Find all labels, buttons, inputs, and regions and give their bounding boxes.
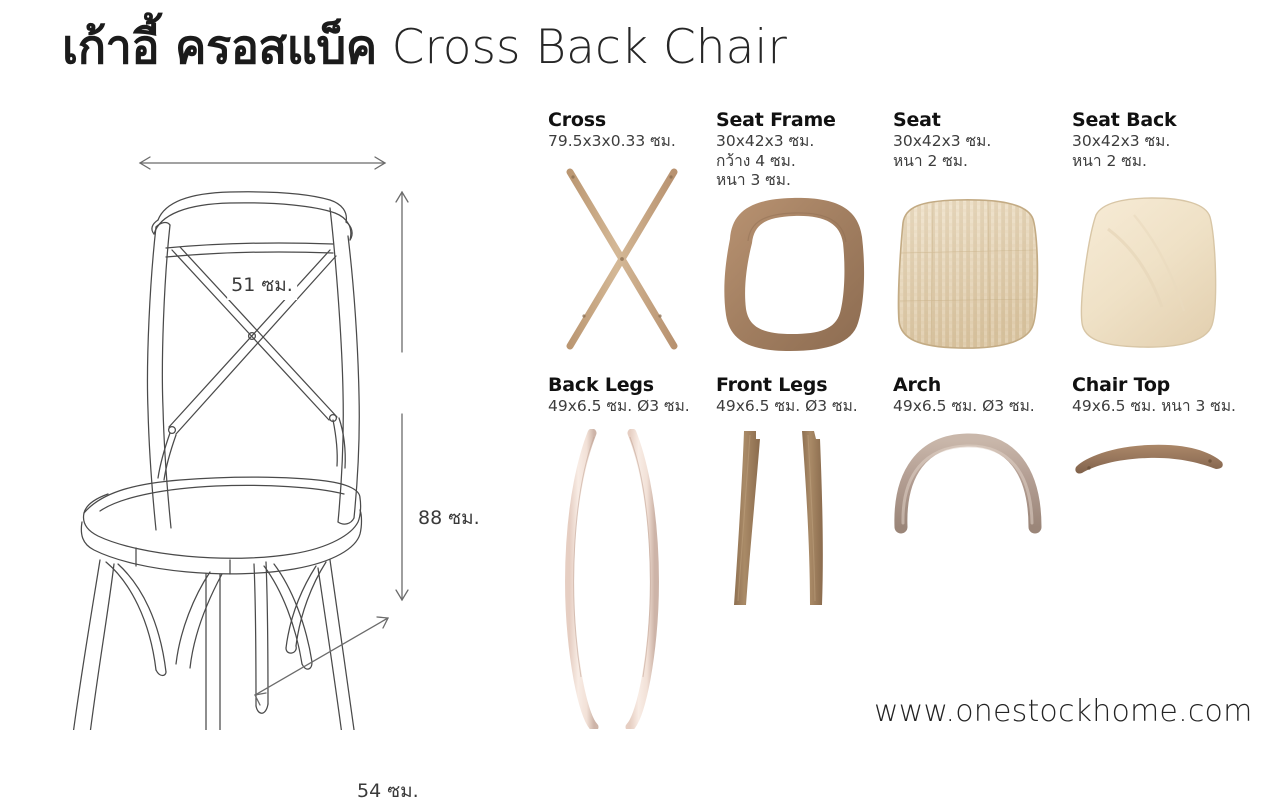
part-spec: หนา 2 ซม. bbox=[1072, 152, 1240, 172]
dimension-width-label: 51 ซม. bbox=[227, 270, 297, 300]
part-spec: 49x6.5 ซม. Ø3 ซม. bbox=[548, 397, 716, 417]
part-spec: 79.5x3x0.33 ซม. bbox=[548, 132, 716, 152]
part-spec: 49x6.5 ซม. Ø3 ซม. bbox=[716, 397, 884, 417]
cross-art bbox=[548, 166, 716, 351]
part-title: Seat Frame bbox=[716, 108, 884, 132]
page-title-english: Cross Back Chair bbox=[392, 20, 787, 75]
part-title: Front Legs bbox=[716, 373, 884, 397]
seat-back-art bbox=[1072, 195, 1240, 355]
infographic-page: เก้าอี้ ครอสแบ็ค Cross Back Chair bbox=[0, 0, 1285, 756]
website-url: www.onestockhome.com bbox=[874, 694, 1253, 729]
part-spec: 30x42x3 ซม. bbox=[1072, 132, 1240, 152]
part-title: Seat bbox=[893, 108, 1061, 132]
part-front-legs: Front Legs 49x6.5 ซม. Ø3 ซม. bbox=[716, 373, 884, 609]
part-title: Arch bbox=[893, 373, 1061, 397]
part-spec: 30x42x3 ซม. bbox=[893, 132, 1061, 152]
part-spec: หนา 2 ซม. bbox=[893, 152, 1061, 172]
dimension-height-label: 88 ซม. bbox=[414, 503, 484, 533]
part-title: Chair Top bbox=[1072, 373, 1240, 397]
seat-art bbox=[893, 195, 1061, 355]
part-spec: กว้าง 4 ซม. bbox=[716, 152, 884, 172]
part-seat-back: Seat Back 30x42x3 ซม. หนา 2 ซม. bbox=[1072, 108, 1240, 355]
seat-frame-art bbox=[716, 195, 884, 355]
part-arch: Arch 49x6.5 ซม. Ø3 ซม. bbox=[893, 373, 1061, 541]
part-cross: Cross 79.5x3x0.33 ซม. bbox=[548, 108, 716, 351]
dimension-depth-label: 54 ซม. bbox=[353, 776, 423, 806]
part-chair-top: Chair Top 49x6.5 ซม. หนา 3 ซม. bbox=[1072, 373, 1240, 513]
part-spec: 49x6.5 ซม. หนา 3 ซม. bbox=[1072, 397, 1240, 417]
part-seat-frame: Seat Frame 30x42x3 ซม. กว้าง 4 ซม. หนา 3… bbox=[716, 108, 884, 355]
part-spec: หนา 3 ซม. bbox=[716, 171, 884, 191]
part-title: Back Legs bbox=[548, 373, 716, 397]
chair-drawing-panel: 51 ซม. 88 ซม. 54 ซม. bbox=[30, 130, 470, 730]
part-title: Cross bbox=[548, 108, 716, 132]
page-title: เก้าอี้ ครอสแบ็ค Cross Back Chair bbox=[62, 18, 787, 78]
part-spec: 49x6.5 ซม. Ø3 ซม. bbox=[893, 397, 1061, 417]
arch-art bbox=[893, 431, 1061, 541]
part-spec: 30x42x3 ซม. bbox=[716, 132, 884, 152]
chair-top-art bbox=[1072, 433, 1240, 513]
part-back-legs: Back Legs 49x6.5 ซม. Ø3 ซม. bbox=[548, 373, 716, 729]
back-legs-art bbox=[548, 429, 716, 729]
chair-line-art bbox=[30, 130, 470, 730]
part-title: Seat Back bbox=[1072, 108, 1240, 132]
front-legs-art bbox=[716, 429, 884, 609]
part-seat: Seat 30x42x3 ซม. หนา 2 ซม. bbox=[893, 108, 1061, 355]
page-title-thai: เก้าอี้ ครอสแบ็ค bbox=[62, 20, 377, 75]
parts-grid: Cross 79.5x3x0.33 ซม. bbox=[548, 108, 1260, 688]
